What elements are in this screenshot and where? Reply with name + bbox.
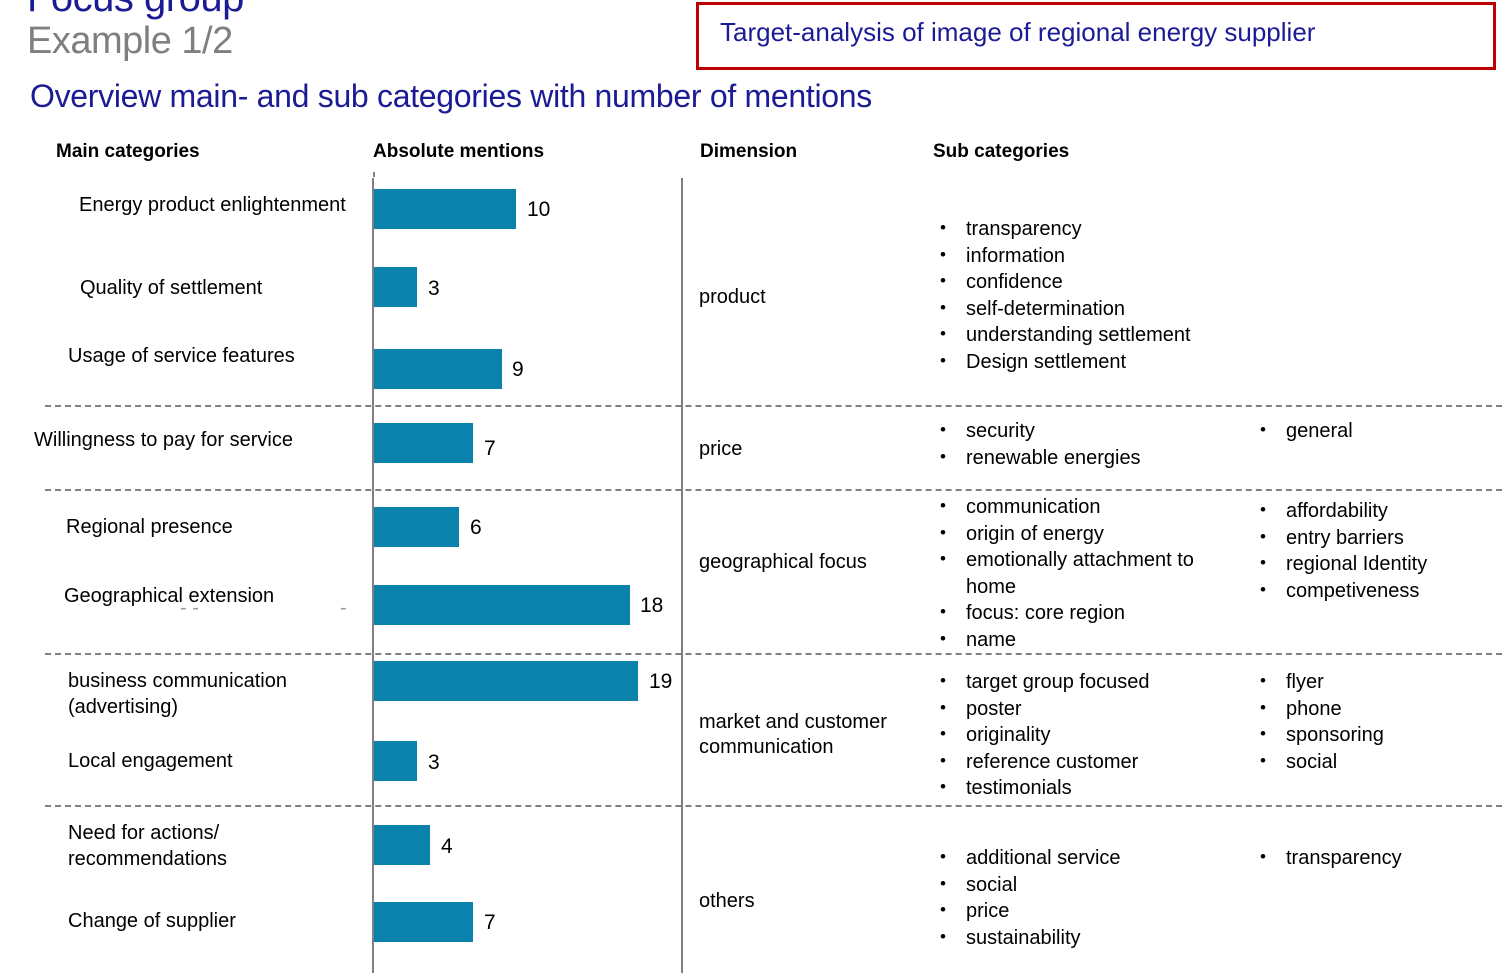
- bar-value-label: 3: [428, 752, 440, 773]
- list-item: price: [934, 898, 1234, 925]
- main-category-label: Usage of service features: [68, 343, 358, 369]
- sub-category-list-secondary: affordability entry barriers regional Id…: [1254, 498, 1502, 604]
- render-artifact: - -: [180, 597, 199, 620]
- list-item: entry barriers: [1254, 525, 1502, 552]
- bar-value-label: 9: [512, 359, 524, 380]
- dimension-label: product: [699, 285, 924, 310]
- main-category-label: business communication (advertising): [68, 668, 348, 720]
- list-item: reference customer: [934, 749, 1234, 776]
- main-category-label: Need for actions/ recommendations: [68, 820, 348, 872]
- list-item: regional Identity: [1254, 551, 1502, 578]
- bar-local-engagement: [374, 741, 417, 781]
- list-item: communication: [934, 494, 1234, 521]
- bar-need-for-actions-recommendations: [374, 825, 430, 865]
- bar-value-label: 7: [484, 438, 496, 459]
- slide-subtitle: Example 1/2: [27, 20, 233, 63]
- sub-category-list: target group focused poster originality …: [934, 669, 1234, 802]
- column-header-main-categories: Main categories: [56, 141, 200, 163]
- list-item: security: [934, 418, 1234, 445]
- slide-kicker: Focus group: [27, 0, 244, 21]
- bar-change-of-supplier: [374, 902, 473, 942]
- bar-willingness-to-pay-for-service: [374, 423, 473, 463]
- topic-callout-label: Target-analysis of image of regional ene…: [720, 17, 1315, 48]
- sub-category-list: security renewable energies: [934, 418, 1234, 471]
- list-item: understanding settlement: [934, 322, 1234, 349]
- list-item: general: [1254, 418, 1502, 445]
- list-item: affordability: [1254, 498, 1502, 525]
- dimension-label: others: [699, 889, 924, 914]
- dimension-label: price: [699, 437, 924, 462]
- sub-category-list: additional service social price sustaina…: [934, 845, 1234, 951]
- sub-category-list: transparency information confidence self…: [934, 216, 1234, 375]
- main-category-label: Change of supplier: [68, 908, 348, 934]
- list-item: confidence: [934, 269, 1234, 296]
- section-divider: [45, 805, 1502, 807]
- bar-energy-product-enlightenment: [374, 189, 516, 229]
- main-category-label: Geographical extension: [64, 583, 364, 609]
- page-title: Overview main- and sub categories with n…: [30, 78, 872, 115]
- list-item: poster: [934, 696, 1234, 723]
- bar-regional-presence: [374, 507, 459, 547]
- list-item: target group focused: [934, 669, 1234, 696]
- dimension-label: market and customer communication: [699, 710, 924, 760]
- column-header-dimension: Dimension: [700, 141, 797, 163]
- list-item: name: [934, 627, 1234, 654]
- list-item: transparency: [1254, 845, 1502, 872]
- main-category-label: Quality of settlement: [80, 275, 360, 301]
- main-category-label: Energy product enlightenment: [79, 192, 349, 218]
- column-header-sub-categories: Sub categories: [933, 141, 1069, 163]
- list-item: social: [1254, 749, 1502, 776]
- bar-value-label: 18: [640, 595, 663, 616]
- section-divider: [45, 653, 1502, 655]
- topic-callout-box: Target-analysis of image of regional ene…: [696, 2, 1496, 70]
- section-divider: [45, 489, 1502, 491]
- bar-geographical-extension: [374, 585, 630, 625]
- dimension-label: geographical focus: [699, 550, 924, 575]
- dimension-column-divider: [681, 178, 683, 973]
- list-item: focus: core region: [934, 600, 1234, 627]
- bar-quality-of-settlement: [374, 267, 417, 307]
- column-header-absolute-mentions: Absolute mentions: [373, 141, 544, 163]
- render-artifact: -: [340, 597, 347, 620]
- main-category-label: Local engagement: [68, 748, 348, 774]
- list-item: testimonials: [934, 775, 1234, 802]
- list-item: competiveness: [1254, 578, 1502, 605]
- list-item: flyer: [1254, 669, 1502, 696]
- list-item: information: [934, 243, 1234, 270]
- bar-value-label: 19: [649, 671, 672, 692]
- bar-value-label: 4: [441, 836, 453, 857]
- main-category-label: Regional presence: [66, 514, 356, 540]
- list-item: sustainability: [934, 925, 1234, 952]
- list-item: Design settlement: [934, 349, 1234, 376]
- bar-value-label: 10: [527, 199, 550, 220]
- list-item: sponsoring: [1254, 722, 1502, 749]
- bar-usage-of-service-features: [374, 349, 502, 389]
- list-item: origin of energy: [934, 521, 1234, 548]
- bar-value-label: 6: [470, 517, 482, 538]
- bar-value-label: 3: [428, 278, 440, 299]
- main-category-label: Willingness to pay for service: [34, 427, 364, 453]
- list-item: transparency: [934, 216, 1234, 243]
- bar-value-label: 7: [484, 912, 496, 933]
- sub-category-list-secondary: transparency: [1254, 845, 1502, 872]
- list-item: additional service: [934, 845, 1234, 872]
- bar-business-communication-advertising: [374, 661, 638, 701]
- section-divider: [45, 405, 1502, 407]
- list-item: renewable energies: [934, 445, 1234, 472]
- sub-category-list-secondary: general: [1254, 418, 1502, 445]
- list-item: phone: [1254, 696, 1502, 723]
- chart-axis-tick: [373, 172, 375, 177]
- sub-category-list-secondary: flyer phone sponsoring social: [1254, 669, 1502, 775]
- list-item: originality: [934, 722, 1234, 749]
- sub-category-list: communication origin of energy emotional…: [934, 494, 1234, 653]
- list-item: self-determination: [934, 296, 1234, 323]
- list-item: social: [934, 872, 1234, 899]
- list-item: emotionally attachment to home: [934, 547, 1234, 600]
